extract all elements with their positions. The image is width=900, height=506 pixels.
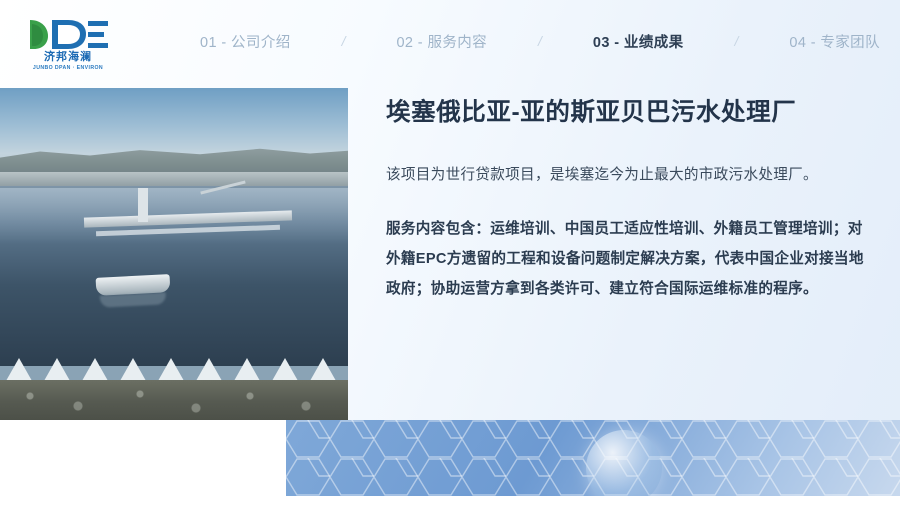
nav-item-02[interactable]: 02 - 服务内容 (396, 31, 487, 52)
jde-leaf-logo-icon (22, 16, 114, 52)
brand-logo: 济邦海澜 JUNBO DPAN · ENVIRON (22, 16, 114, 72)
water-drop-icon (586, 430, 662, 506)
nav-item-04[interactable]: 04 - 专家团队 (789, 31, 880, 52)
footer-white-strip (0, 420, 286, 506)
hexagon-water-drop-graphic (286, 420, 900, 506)
slide-header: 济邦海澜 JUNBO DPAN · ENVIRON 01 - 公司介绍 / 02… (0, 0, 900, 82)
brand-wordmark: 济邦海澜 JUNBO DPAN · ENVIRON (22, 52, 114, 74)
wastewater-treatment-plant-photo (0, 88, 348, 420)
content-column: 埃塞俄比亚-亚的斯亚贝巴污水处理厂 该项目为世行贷款项目，是埃塞迄今为止最大的市… (386, 96, 872, 328)
nav-separator: / (487, 33, 593, 49)
nav-item-03[interactable]: 03 - 业绩成果 (593, 31, 684, 52)
photo-tower (138, 188, 148, 222)
brand-name-cn: 济邦海澜 (22, 52, 114, 63)
paragraph-services: 服务内容包含：运维培训、中国员工适应性培训、外籍员工管理培训；对外籍EPC方遗留… (386, 214, 872, 304)
section-nav: 01 - 公司介绍 / 02 - 服务内容 / 03 - 业绩成果 / 04 -… (200, 28, 880, 54)
nav-separator: / (684, 33, 790, 49)
paragraph-overview: 该项目为世行贷款项目，是埃塞迄今为止最大的市政污水处理厂。 (386, 160, 872, 190)
page-title: 埃塞俄比亚-亚的斯亚贝巴污水处理厂 (386, 96, 872, 130)
nav-item-01[interactable]: 01 - 公司介绍 (200, 31, 291, 52)
photo-foreground-debris (0, 384, 348, 420)
footer-bottom-bar (0, 496, 900, 506)
brand-name-en: JUNBO DPAN · ENVIRON (22, 63, 114, 74)
nav-separator: / (291, 33, 397, 49)
slide-root: 济邦海澜 JUNBO DPAN · ENVIRON 01 - 公司介绍 / 02… (0, 0, 900, 506)
